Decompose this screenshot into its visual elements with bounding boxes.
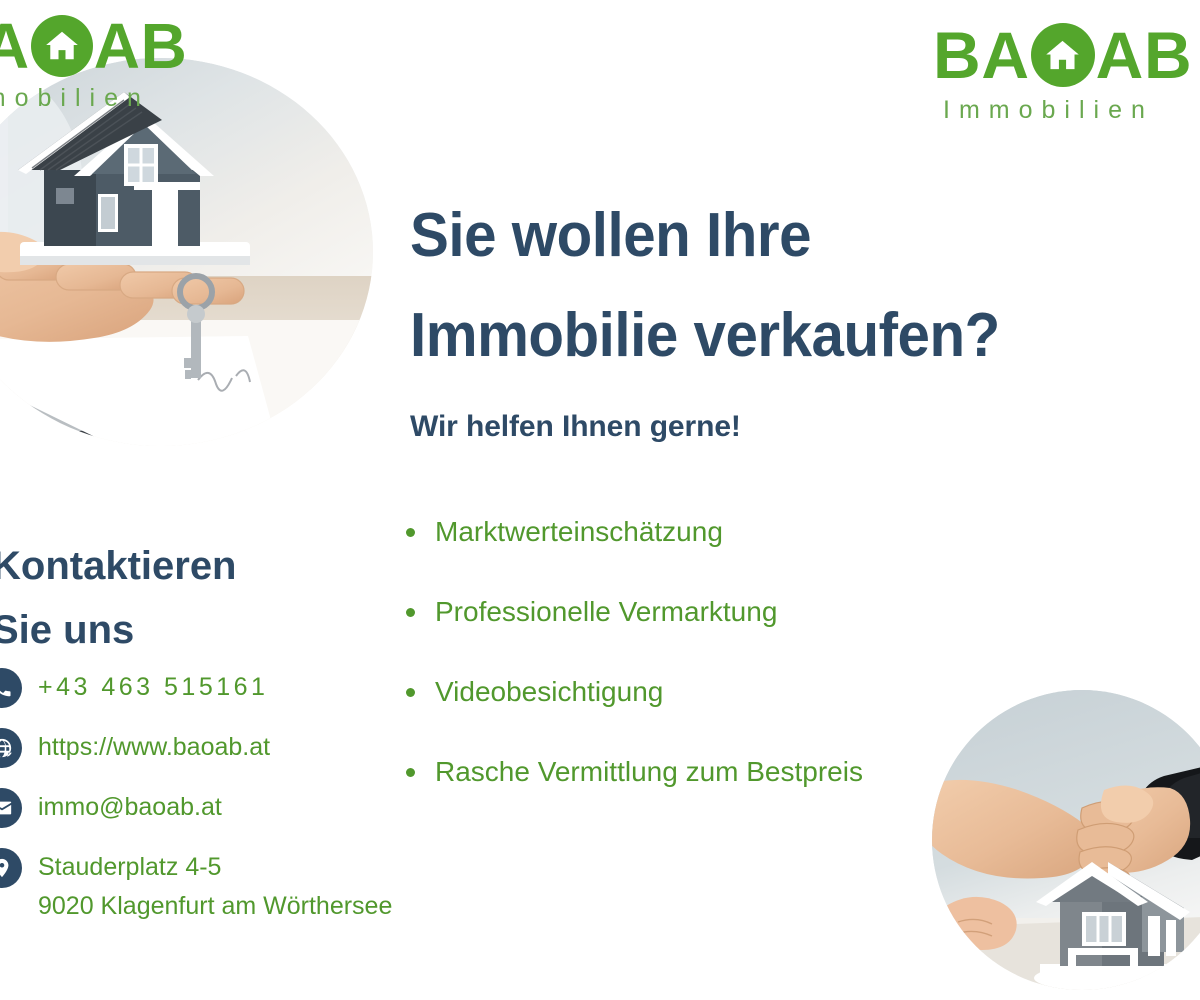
contact-item-website[interactable]: https://www.baoab.at: [0, 728, 392, 768]
benefit-label: Professionelle Vermarktung: [435, 596, 777, 628]
photo-handshake-over-house-model: [932, 690, 1200, 990]
advertisement-canvas: BA AB Immobilien BA AB Immobilien Sie wo…: [0, 0, 1200, 1000]
brand-name-suffix: AB: [94, 14, 188, 78]
benefit-label: Rasche Vermittlung zum Bestpreis: [435, 756, 863, 788]
house-icon: [1031, 23, 1095, 87]
headline-line-1: Sie wollen Ihre: [410, 186, 1153, 286]
globe-icon: [0, 728, 22, 768]
contact-heading-line-2: Sie uns: [0, 598, 322, 662]
list-item: Videobesichtigung: [406, 652, 863, 732]
headline-line-2: Immobilie verkaufen?: [410, 286, 1153, 386]
benefits-list: Marktwerteinschätzung Professionelle Ver…: [406, 492, 863, 812]
list-item: Rasche Vermittlung zum Bestpreis: [406, 732, 863, 812]
contact-heading: Kontaktieren Sie uns: [0, 534, 322, 662]
bullet-dot-icon: [406, 608, 415, 617]
brand-name-prefix: BA: [0, 14, 30, 78]
location-pin-icon: [0, 848, 22, 888]
contact-email-value: immo@baoab.at: [38, 788, 222, 827]
contact-item-email[interactable]: immo@baoab.at: [0, 788, 392, 828]
list-item: Professionelle Vermarktung: [406, 572, 863, 652]
brand-name-prefix: BA: [933, 22, 1030, 88]
phone-icon: [0, 668, 22, 708]
contact-phone-value: +43 463 515161: [38, 668, 268, 707]
brand-logo-top-left: BA AB Immobilien: [0, 14, 187, 111]
contact-item-phone[interactable]: +43 463 515161: [0, 668, 392, 708]
contact-list: +43 463 515161 https://www.baoab.at immo…: [0, 668, 392, 926]
photo-hand-holding-house-model: [0, 58, 373, 446]
bullet-dot-icon: [406, 768, 415, 777]
list-item: Marktwerteinschätzung: [406, 492, 863, 572]
brand-name-suffix: AB: [1096, 22, 1193, 88]
benefit-label: Marktwerteinschätzung: [435, 516, 723, 548]
brand-tagline: Immobilien: [0, 86, 150, 111]
envelope-icon: [0, 788, 22, 828]
benefit-label: Videobesichtigung: [435, 676, 663, 708]
brand-logo-top-right: BA AB Immobilien: [933, 22, 1192, 123]
bullet-dot-icon: [406, 528, 415, 537]
house-icon: [31, 15, 93, 77]
contact-address-value: Stauderplatz 4-5 9020 Klagenfurt am Wört…: [38, 848, 392, 926]
contact-item-address[interactable]: Stauderplatz 4-5 9020 Klagenfurt am Wört…: [0, 848, 392, 926]
contact-heading-line-1: Kontaktieren: [0, 534, 322, 598]
subheadline: Wir helfen Ihnen gerne!: [410, 410, 741, 444]
brand-tagline: Immobilien: [943, 98, 1154, 123]
page-title: Sie wollen Ihre Immobilie verkaufen?: [410, 186, 1153, 387]
contact-website-value: https://www.baoab.at: [38, 728, 270, 767]
bullet-dot-icon: [406, 688, 415, 697]
brand-logo-wordmark: BA AB: [933, 22, 1192, 88]
brand-logo-wordmark: BA AB: [0, 14, 187, 78]
